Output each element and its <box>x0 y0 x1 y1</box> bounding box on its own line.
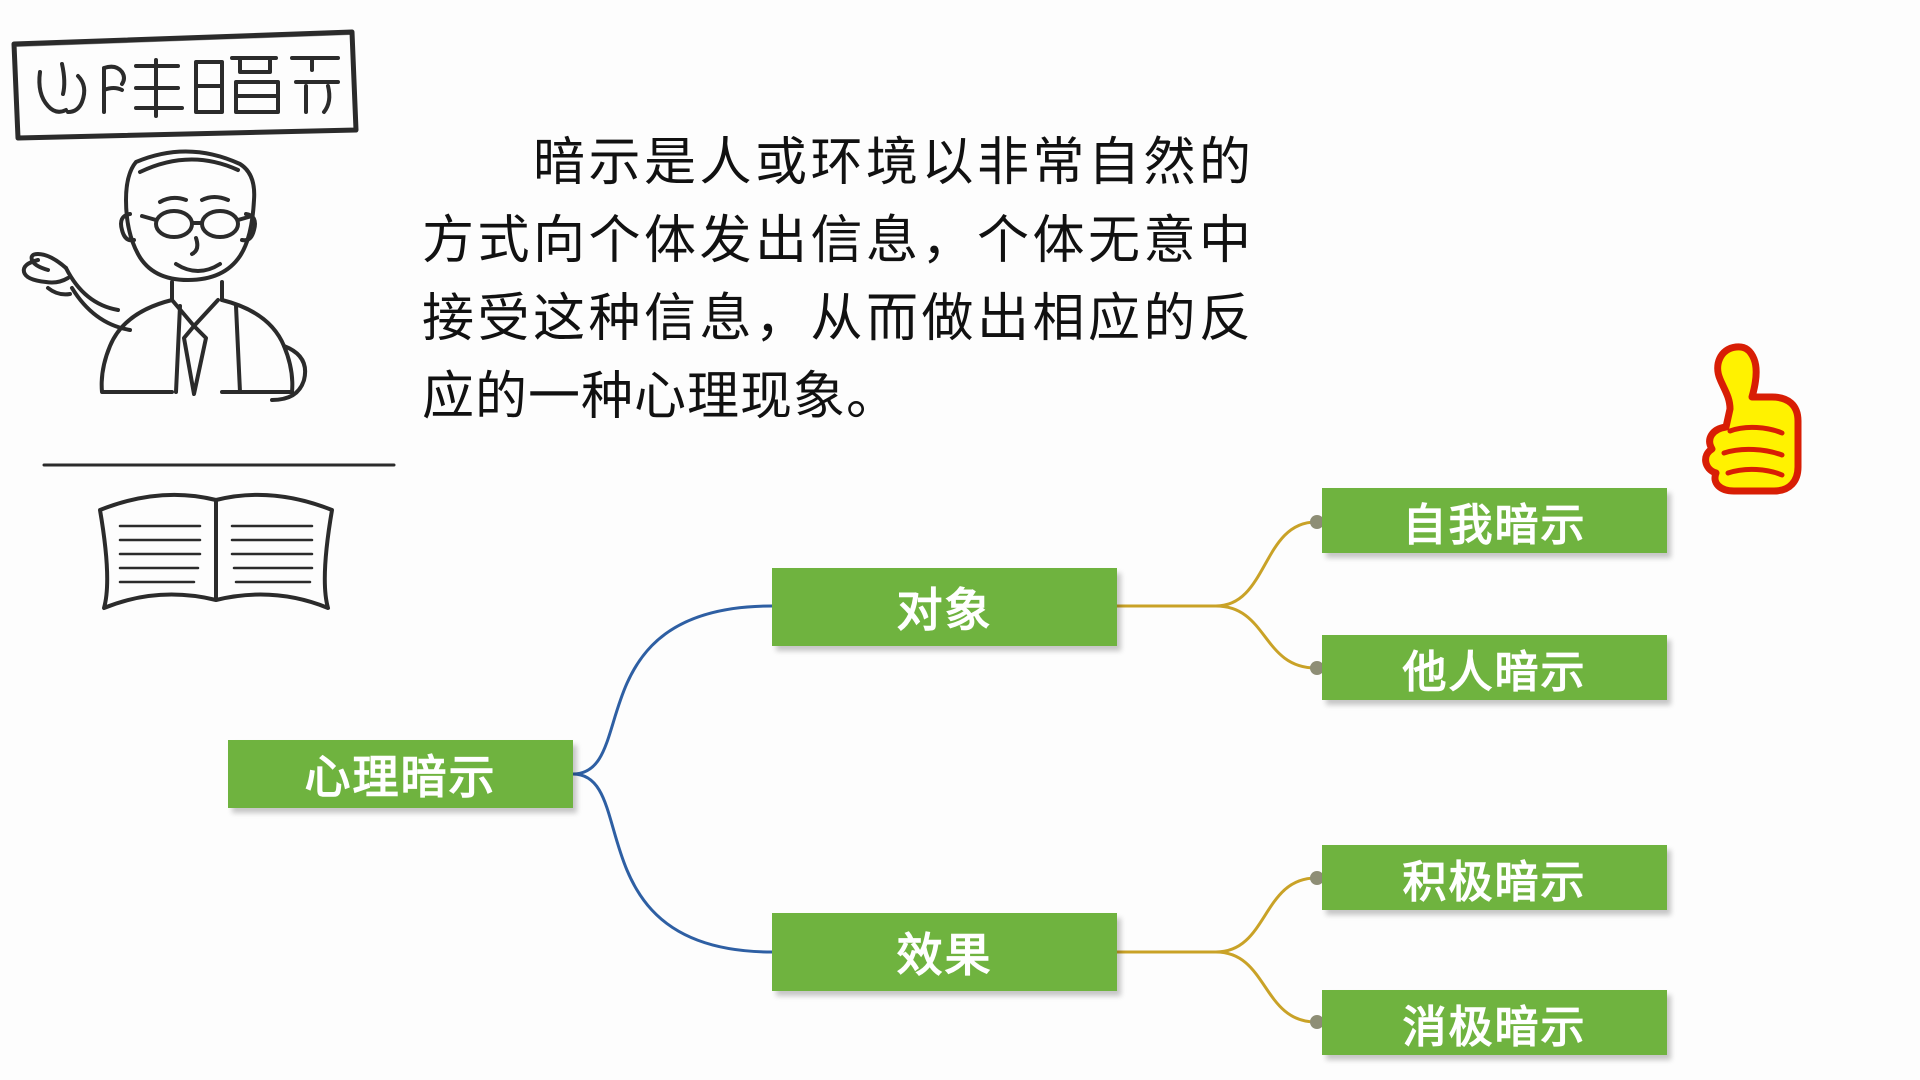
root-link-upper <box>573 606 772 774</box>
mindmap-leaf-label: 消极暗示 <box>1403 991 1587 1055</box>
mindmap-leaf-label: 自我暗示 <box>1403 489 1587 553</box>
mindmap-root-node[interactable]: 心理暗示 <box>228 740 573 808</box>
mindmap: 心理暗示 对象 效果 自我暗示 他人暗示 积极暗示 消极暗示 <box>0 400 1920 1080</box>
intro-paragraph: 暗示是人或环境以非常自然的方式向个体发出信息，个体无意中接受这种信息，从而做出相… <box>422 125 1252 437</box>
mindmap-root-label: 心理暗示 <box>305 741 497 807</box>
root-link-lower <box>573 774 772 952</box>
sign-handwriting <box>39 58 338 116</box>
mindmap-leaf-self-suggestion[interactable]: 自我暗示 <box>1322 488 1667 553</box>
mindmap-leaf-negative-suggestion[interactable]: 消极暗示 <box>1322 990 1667 1055</box>
mindmap-leaf-other-suggestion[interactable]: 他人暗示 <box>1322 635 1667 700</box>
branch2-link-1 <box>1216 878 1316 952</box>
mindmap-branch-object[interactable]: 对象 <box>772 568 1117 646</box>
branch2-link-2 <box>1216 952 1316 1022</box>
mindmap-leaf-positive-suggestion[interactable]: 积极暗示 <box>1322 845 1667 910</box>
thumbs-up-icon <box>1690 335 1810 495</box>
mindmap-branch-effect[interactable]: 效果 <box>772 913 1117 991</box>
mindmap-branch-label: 对象 <box>897 574 993 640</box>
mindmap-branch-label: 效果 <box>897 919 993 985</box>
mindmap-leaf-label: 他人暗示 <box>1403 636 1587 700</box>
mindmap-leaf-label: 积极暗示 <box>1403 846 1587 910</box>
branch1-link-2 <box>1216 606 1316 668</box>
branch1-link-1 <box>1216 522 1316 606</box>
slide-canvas: 暗示是人或环境以非常自然的方式向个体发出信息，个体无意中接受这种信息，从而做出相… <box>0 0 1920 1080</box>
